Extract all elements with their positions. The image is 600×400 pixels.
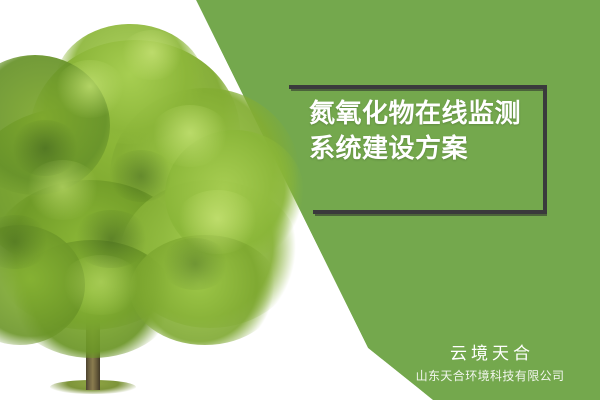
brand-block: 云境天合 山东天合环境科技有限公司 xyxy=(400,342,580,386)
slide-title: 氮氧化物在线监测 系统建设方案 xyxy=(309,96,549,166)
title-slide: 氮氧化物在线监测 系统建设方案 云境天合 山东天合环境科技有限公司 xyxy=(0,0,600,400)
title-line-1: 氮氧化物在线监测 xyxy=(309,96,549,131)
frame-bottom-rule xyxy=(313,210,547,214)
title-line-2: 系统建设方案 xyxy=(309,131,549,166)
tree-base xyxy=(50,380,136,394)
frame-top-rule xyxy=(289,85,547,89)
tree-trunk xyxy=(86,268,100,390)
tree-image xyxy=(0,0,300,400)
brand-company: 山东天合环境科技有限公司 xyxy=(400,366,580,386)
green-chevron-shape xyxy=(0,0,600,400)
brand-name: 云境天合 xyxy=(400,342,580,366)
frame-top-shadow xyxy=(291,89,547,91)
frame-bottom-shadow xyxy=(315,214,547,216)
